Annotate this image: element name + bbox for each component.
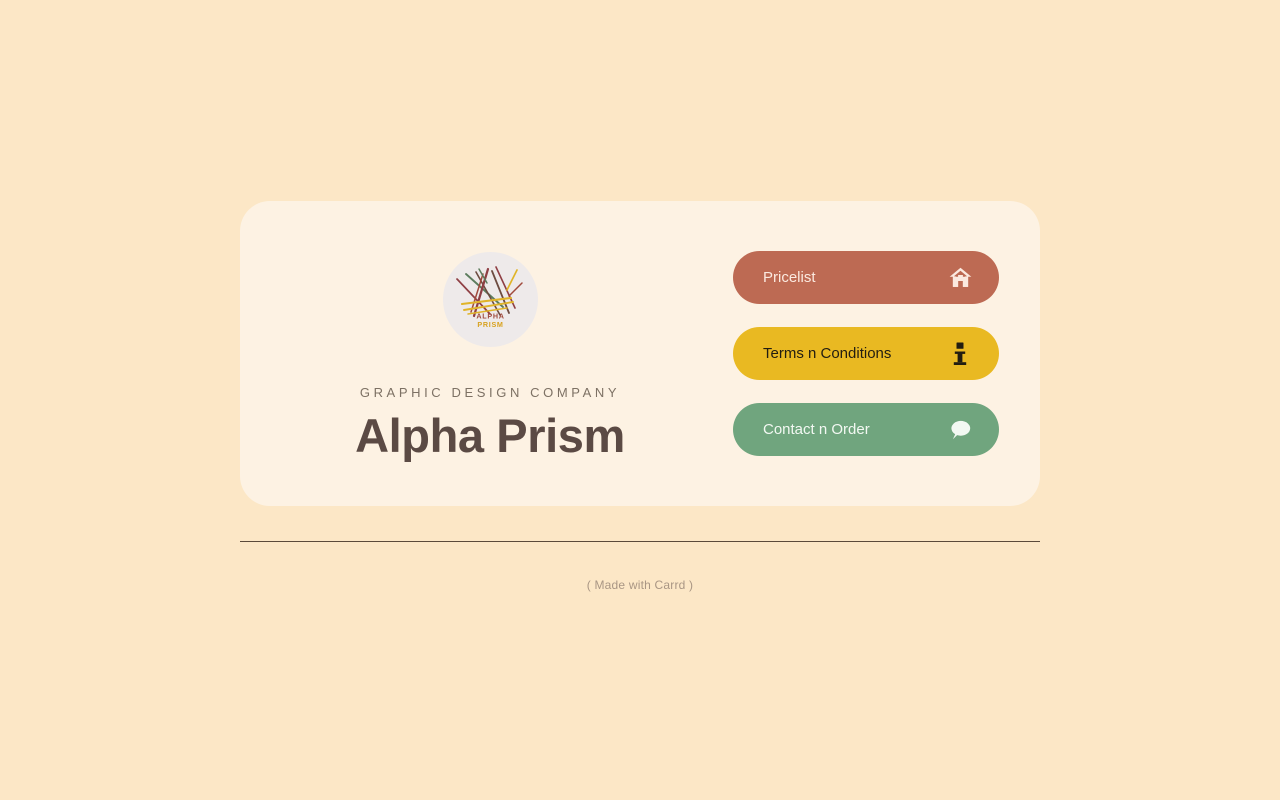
home-icon (947, 265, 973, 291)
footer-credit: ( Made with Carrd ) (0, 578, 1280, 592)
nav-button-terms[interactable]: Terms n Conditions (733, 327, 999, 380)
carrd-credit-link[interactable]: ( Made with Carrd ) (587, 578, 694, 592)
nav-button-contact-label: Contact n Order (763, 421, 947, 438)
info-icon (947, 341, 973, 367)
chat-bubble-icon (947, 417, 973, 443)
nav-button-pricelist[interactable]: Pricelist (733, 251, 999, 304)
nav-column: Pricelist Terms n Conditions (740, 201, 1040, 506)
footer-divider (240, 541, 1040, 542)
nav-button-terms-label: Terms n Conditions (763, 345, 947, 362)
brand-tagline: GRAPHIC DESIGN COMPANY (360, 385, 620, 400)
alpha-prism-logo: ALPHA PRISM (443, 252, 538, 347)
profile-card: ALPHA PRISM GRAPHIC DESIGN COMPANY Alpha… (240, 201, 1040, 506)
nav-button-pricelist-label: Pricelist (763, 269, 947, 286)
landing-page: ALPHA PRISM GRAPHIC DESIGN COMPANY Alpha… (0, 0, 1280, 800)
brand-column: ALPHA PRISM GRAPHIC DESIGN COMPANY Alpha… (240, 201, 740, 506)
svg-text:PRISM: PRISM (477, 320, 503, 329)
nav-button-contact[interactable]: Contact n Order (733, 403, 999, 456)
page-title: Alpha Prism (355, 411, 625, 460)
